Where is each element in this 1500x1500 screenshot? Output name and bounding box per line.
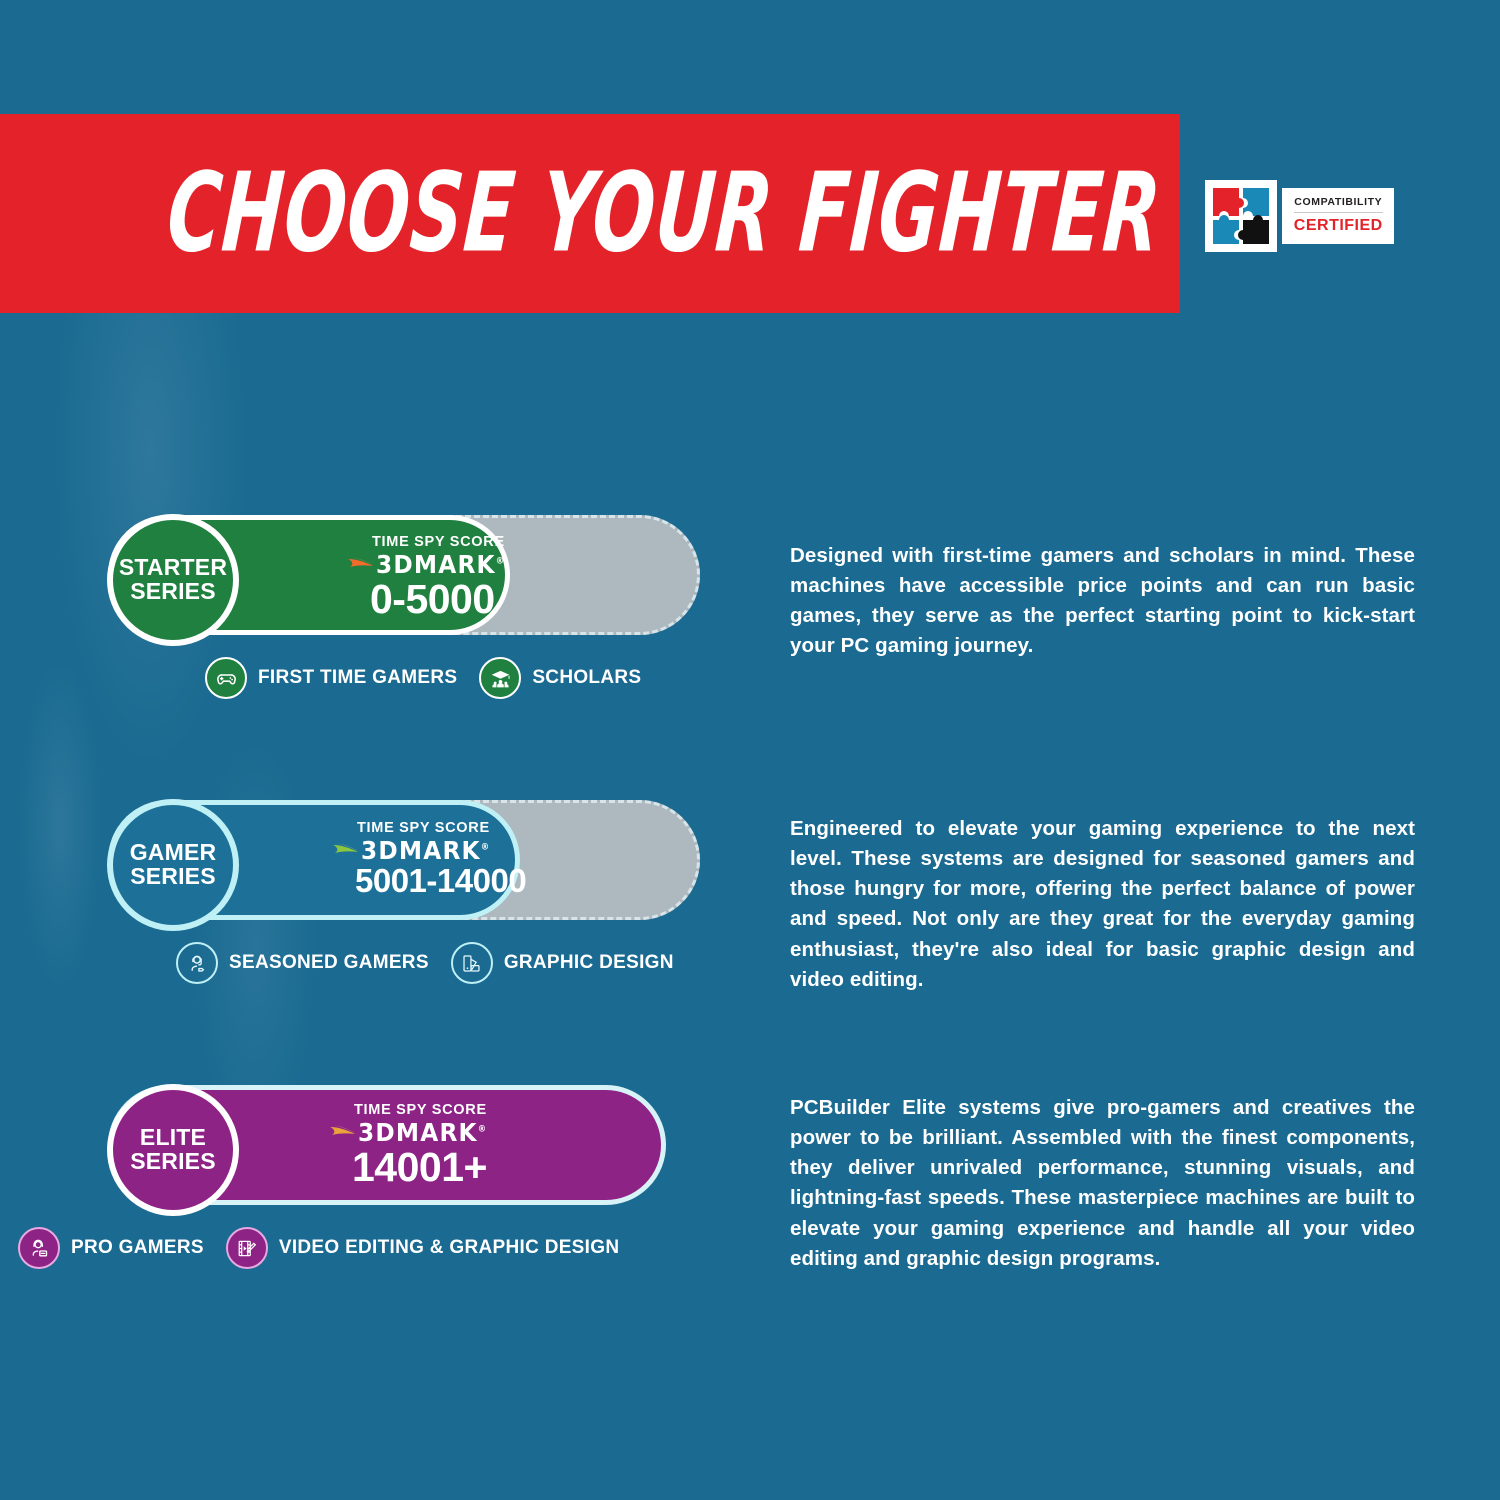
3dmark-logo: 3DMARK® — [330, 1120, 497, 1145]
film-pencil-icon — [226, 1227, 268, 1269]
compatibility-text-box: COMPATIBILITY CERTIFIED — [1282, 188, 1394, 244]
series-badge-label: STARTER SERIES — [119, 556, 227, 604]
graduation-cap-icon — [479, 657, 521, 699]
series-row-elite: ELITE SERIES TIME SPY SCORE 3DMARK® 1400… — [0, 1085, 1500, 1274]
score-caption: TIME SPY SCORE — [354, 1103, 487, 1118]
tag-scholars[interactable]: SCHOLARS — [479, 657, 641, 699]
compatibility-label: COMPATIBILITY — [1294, 196, 1383, 213]
series-badge-circle: STARTER SERIES — [107, 514, 239, 646]
tags-row: SEASONED GAMERS GRAPHIC DESIGN — [176, 942, 700, 984]
tag-label: VIDEO EDITING & GRAPHIC DESIGN — [279, 1237, 619, 1259]
series-meter-elite: ELITE SERIES TIME SPY SCORE 3DMARK® 1400… — [0, 1085, 700, 1269]
tag-label: FIRST TIME GAMERS — [258, 667, 457, 689]
tag-seasoned-gamers[interactable]: SEASONED GAMERS — [176, 942, 429, 984]
score-block: TIME SPY SCORE 3DMARK® 0-5000 — [348, 535, 515, 621]
gamepad-icon — [205, 657, 247, 699]
swoosh-icon — [348, 554, 374, 574]
score-block: TIME SPY SCORE 3DMARK® 5001-14000 — [333, 821, 526, 898]
score-block: TIME SPY SCORE 3DMARK® 14001+ — [330, 1103, 497, 1189]
headset-gamer-icon — [176, 942, 218, 984]
series-row-gamer: GAMER SERIES TIME SPY SCORE 3DMARK® 5001… — [0, 800, 1500, 995]
series-meter-gamer: GAMER SERIES TIME SPY SCORE 3DMARK® 5001… — [0, 800, 700, 984]
tag-label: GRAPHIC DESIGN — [504, 952, 674, 974]
tag-first-time-gamers[interactable]: FIRST TIME GAMERS — [205, 657, 457, 699]
puzzle-icon — [1205, 180, 1277, 252]
tag-label: SEASONED GAMERS — [229, 952, 429, 974]
3dmark-logo: 3DMARK® — [333, 838, 500, 863]
tag-video-editing-graphic-design[interactable]: VIDEO EDITING & GRAPHIC DESIGN — [226, 1227, 619, 1269]
3dmark-logo: 3DMARK® — [348, 552, 515, 577]
meter-track: STARTER SERIES TIME SPY SCORE 3DMARK® 0-… — [108, 515, 700, 635]
meter-track: ELITE SERIES TIME SPY SCORE 3DMARK® 1400… — [108, 1085, 700, 1205]
series-badge-label: GAMER SERIES — [130, 841, 217, 889]
pro-gamer-icon — [18, 1227, 60, 1269]
series-meter-starter: STARTER SERIES TIME SPY SCORE 3DMARK® 0-… — [0, 515, 700, 699]
swoosh-icon — [330, 1122, 356, 1142]
compatibility-certified-badge: COMPATIBILITY CERTIFIED — [1205, 180, 1394, 252]
3dmark-wordmark: 3DMARK® — [358, 1120, 487, 1145]
tag-label: PRO GAMERS — [71, 1237, 204, 1259]
swoosh-icon — [333, 840, 359, 860]
score-caption: TIME SPY SCORE — [372, 535, 505, 550]
tags-row: PRO GAMERS VIDEO EDITING & GRAPHIC DESIG… — [18, 1227, 700, 1269]
meter-track: GAMER SERIES TIME SPY SCORE 3DMARK® 5001… — [108, 800, 700, 920]
series-badge-circle: ELITE SERIES — [107, 1084, 239, 1216]
tags-row: FIRST TIME GAMERS SCHOLARS — [205, 657, 700, 699]
3dmark-wordmark: 3DMARK® — [361, 838, 490, 863]
tag-graphic-design[interactable]: GRAPHIC DESIGN — [451, 942, 674, 984]
series-description-gamer: Engineered to elevate your gaming experi… — [790, 814, 1415, 995]
score-value: 5001-14000 — [355, 864, 526, 899]
series-badge-circle: GAMER SERIES — [107, 799, 239, 931]
score-value: 0-5000 — [370, 578, 495, 621]
certified-label: CERTIFIED — [1294, 213, 1383, 235]
tag-label: SCHOLARS — [532, 667, 641, 689]
page-title: CHOOSE YOUR FIGHTER — [164, 159, 1164, 269]
3dmark-wordmark: 3DMARK® — [376, 552, 505, 577]
series-badge-label: ELITE SERIES — [130, 1126, 216, 1174]
tag-pro-gamers[interactable]: PRO GAMERS — [18, 1227, 204, 1269]
series-description-starter: Designed with first-time gamers and scho… — [790, 541, 1415, 662]
score-caption: TIME SPY SCORE — [357, 821, 490, 836]
header-bar: CHOOSE YOUR FIGHTER COMPATIBILITY CERTIF… — [0, 114, 1180, 313]
series-description-elite: PCBuilder Elite systems give pro-gamers … — [790, 1093, 1415, 1274]
series-row-starter: STARTER SERIES TIME SPY SCORE 3DMARK® 0-… — [0, 515, 1500, 699]
score-value: 14001+ — [352, 1146, 487, 1189]
color-swatch-icon — [451, 942, 493, 984]
